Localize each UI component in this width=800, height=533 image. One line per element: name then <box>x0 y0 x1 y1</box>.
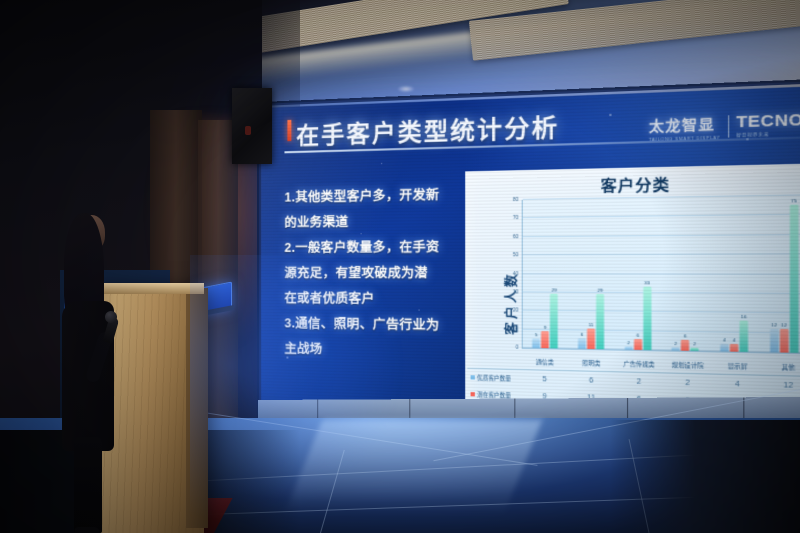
chart-bar-value: 4 <box>733 337 736 343</box>
chart-gridline: 10 <box>523 328 800 333</box>
chart-gridline: 50 <box>523 253 800 255</box>
chart-bar-value: 29 <box>551 288 556 293</box>
bullet-line: 源充足，有望攻破成为潜 <box>284 261 453 286</box>
bullet-line: 3.通信、照明、广告行业为 <box>284 311 453 338</box>
chart-x-tick-label: 照明类 <box>568 354 615 372</box>
wall-speaker <box>232 88 272 164</box>
chart-bar-value: 6 <box>636 332 639 338</box>
chart-gridline: 0 <box>523 347 800 353</box>
chart-bar: 75 <box>789 204 798 353</box>
chart-bar: 2 <box>672 347 680 351</box>
chart-bar-value: 12 <box>781 322 787 328</box>
bullet-line: 2.一般客户数量多，在手资 <box>284 234 453 259</box>
podium-side-face <box>186 288 208 528</box>
chart-bar: 9 <box>541 331 549 348</box>
chart-gridline: 40 <box>523 273 800 274</box>
chart-bar-group: 2633 <box>624 198 651 350</box>
chart-bar-value: 4 <box>723 337 726 343</box>
chart-bar: 4 <box>720 344 728 352</box>
chart-bar-value: 6 <box>684 333 687 339</box>
chart-bar: 5 <box>533 339 541 348</box>
chart-bar-value: 11 <box>588 322 593 327</box>
bullet-line: 主战场 <box>284 336 453 364</box>
bullet-line: 的业务渠道 <box>284 208 453 234</box>
table-cell: 2 <box>663 373 712 392</box>
table-corner <box>467 352 521 370</box>
legend-label: 优质客户数量 <box>477 374 511 382</box>
chart-bar: 12 <box>780 329 789 353</box>
chart-bar: 11 <box>587 328 595 349</box>
presentation-slide: 在手客户类型统计分析 太龙智显 TAILONG SMART DISPLAY TE… <box>261 85 800 450</box>
chart-bar-value: 75 <box>791 198 797 204</box>
logo-divider <box>728 115 729 137</box>
chart-y-tick-label: 20 <box>513 307 519 312</box>
chart-bar-value: 2 <box>693 340 696 346</box>
chart-bar: 6 <box>634 338 642 350</box>
chart-gridline: 60 <box>523 234 800 237</box>
presenter-shoe <box>73 527 101 533</box>
bullet-line: 1.其他类型客户多，开发新 <box>284 182 453 210</box>
chart-gridline: 20 <box>523 310 800 314</box>
chart-bar: 2 <box>691 347 699 351</box>
chart-y-tick-label: 60 <box>513 233 519 238</box>
chart-bar-group: 61129 <box>578 199 604 350</box>
chart-bar-group: 262 <box>672 197 699 351</box>
chart-bar-value: 12 <box>771 322 777 328</box>
chart-bar: 12 <box>770 329 779 353</box>
chart-x-tick-label: 广告传媒类 <box>615 355 663 374</box>
chart-bar: 4 <box>730 344 738 352</box>
chart-x-tick-label: 规划设计院 <box>663 356 712 375</box>
speaker-indicator-icon <box>245 126 251 135</box>
chart-x-tick-label: 通信类 <box>522 353 568 371</box>
chart-bar-value: 5 <box>535 332 538 337</box>
legend-color-swatch <box>471 392 475 396</box>
table-cell: 4 <box>712 375 762 394</box>
chart-legend-item: 优质客户数量 <box>467 369 521 387</box>
chart-plot-area: 0102030405060708059296112926332624416121… <box>522 195 800 354</box>
chart-y-tick-label: 80 <box>513 196 519 201</box>
chart-bar-group: 5929 <box>533 199 559 348</box>
floor-shadow-right <box>610 420 800 533</box>
chart-bar: 6 <box>681 339 689 351</box>
table-cell: 2 <box>615 372 663 391</box>
chart-bar: 29 <box>550 294 558 348</box>
table-cell: 6 <box>568 371 615 389</box>
chart-bar: 16 <box>740 321 749 352</box>
legend-color-swatch <box>471 375 475 379</box>
chart-y-tick-label: 50 <box>513 252 519 257</box>
chart-y-tick-label: 0 <box>516 344 519 349</box>
microphone-head-icon <box>105 311 117 323</box>
chart-bar-group: 121275 <box>770 196 798 353</box>
chart-y-tick-label: 10 <box>513 325 519 330</box>
led-video-wall[interactable]: 在手客户类型统计分析 太龙智显 TAILONG SMART DISPLAY TE… <box>261 85 800 450</box>
logo-chinese-name: 太龙智显 <box>649 116 715 135</box>
title-accent-mark <box>287 120 291 141</box>
chart-bar-value: 33 <box>644 280 650 285</box>
chart-bar-value: 9 <box>544 325 547 330</box>
chart-x-tick-label: 其他 <box>763 358 800 377</box>
downlight-icon <box>398 86 414 92</box>
chart-bar: 2 <box>624 346 632 350</box>
chart-gridline: 30 <box>523 291 800 294</box>
company-logo: 太龙智显 TAILONG SMART DISPLAY TECNON 智显视界未来 <box>649 109 800 142</box>
chart-y-tick-label: 70 <box>513 215 519 220</box>
chart-bar: 29 <box>596 294 604 349</box>
logo-english-name: TECNON <box>736 110 800 132</box>
presenter <box>62 205 120 533</box>
chart-bar-value: 2 <box>674 340 677 346</box>
chart-bar-group: 4416 <box>720 196 748 352</box>
logo-english-tagline: 智显视界未来 <box>736 130 800 138</box>
chart-bar-value: 2 <box>627 339 630 344</box>
chart-y-tick-label: 40 <box>513 270 519 275</box>
conference-presentation-photo: 在手客户类型统计分析 太龙智显 TAILONG SMART DISPLAY TE… <box>0 0 800 533</box>
bullet-line: 在或者优质客户 <box>284 286 453 312</box>
slide-bullet-list: 1.其他类型客户多，开发新 的业务渠道 2.一般客户数量多，在手资 源充足，有望… <box>284 182 453 365</box>
chart-gridline: 70 <box>523 214 800 218</box>
chart-bar: 6 <box>578 338 586 349</box>
chart-bar-value: 6 <box>581 331 584 336</box>
chart-y-tick-label: 30 <box>513 289 519 294</box>
chart-bar-value: 16 <box>741 314 747 320</box>
chart-panel: 客户分类 客户人数 010203040506070805929611292633… <box>465 163 800 436</box>
table-cell: 5 <box>522 370 568 388</box>
floor-light-reflection <box>278 420 542 530</box>
chart-bar-value: 29 <box>597 288 603 293</box>
chart-bar: 33 <box>643 287 651 350</box>
chart-x-tick-label: 显示屏 <box>712 357 762 376</box>
presenter-legs <box>74 437 102 533</box>
